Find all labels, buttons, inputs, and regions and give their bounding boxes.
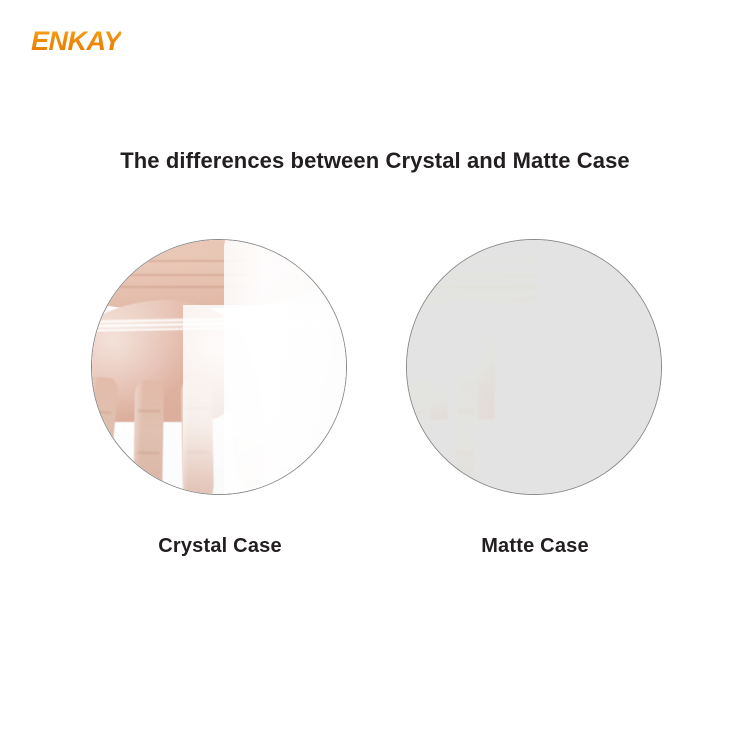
case-frost-layer bbox=[406, 239, 662, 495]
brand-logo: ENKAY bbox=[31, 28, 121, 55]
matte-scene bbox=[406, 239, 662, 495]
comparison-item-crystal: Crystal Case bbox=[91, 239, 349, 579]
page-title: The differences between Crystal and Matt… bbox=[0, 148, 750, 174]
crystal-case-photo bbox=[91, 239, 347, 495]
crystal-case-label: Crystal Case bbox=[91, 535, 349, 558]
comparison-section: Crystal Case bbox=[0, 239, 750, 579]
matte-case-photo bbox=[406, 239, 662, 495]
crystal-scene bbox=[91, 239, 347, 495]
matte-case-label: Matte Case bbox=[406, 535, 664, 558]
case-glass-tint bbox=[91, 239, 347, 495]
comparison-item-matte: Matte Case bbox=[406, 239, 664, 579]
